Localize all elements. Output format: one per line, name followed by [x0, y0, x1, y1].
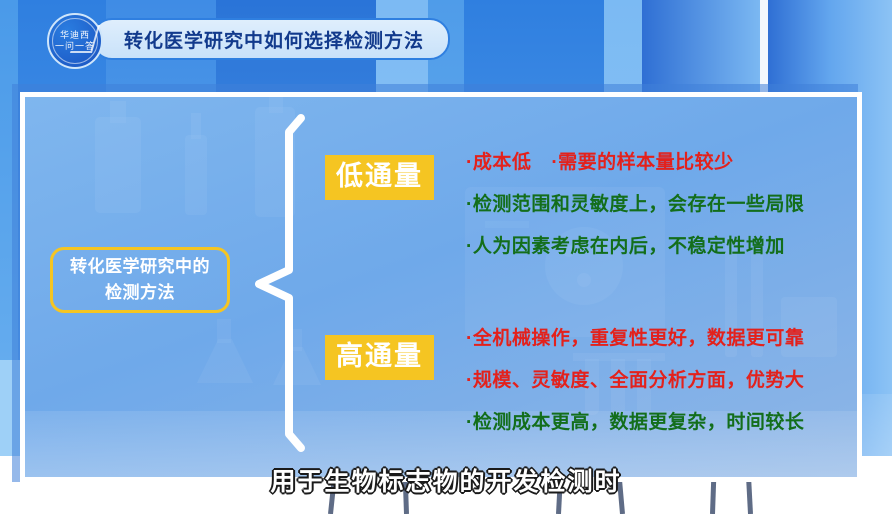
bottle-neck-icon — [191, 113, 201, 139]
bullet-line: ·成本低·需要的样本量比较少 — [466, 142, 804, 184]
analyzer-dot-icon — [577, 273, 591, 287]
category-chip-high-throughput: 高通量 — [325, 335, 434, 380]
flask-neck-icon — [217, 319, 231, 343]
bullet-line: ·人为因素考虑在内后，不稳定性增加 — [466, 226, 804, 268]
bottle-neck-icon — [110, 101, 126, 123]
root-node-box: 转化医学研究中的 检测方法 — [50, 247, 230, 313]
category-chip-low-throughput: 低通量 — [325, 155, 434, 200]
bullet-segment: ·需要的样本量比较少 — [551, 152, 733, 173]
category-chip-high-throughput-label: 高通量 — [336, 341, 423, 371]
page-title: 转化医学研究中如何选择检测方法 — [124, 26, 424, 53]
title-pill: 转化医学研究中如何选择检测方法 — [92, 18, 450, 60]
bottle-neck-icon — [269, 97, 283, 113]
video-frame: 华迪西 一问一答 转化医学研究中如何选择检测方法 — [0, 0, 892, 514]
bullet-segment: ·成本低 — [466, 152, 531, 173]
subtitle-caption: 用于生物标志物的开发检测时 — [0, 462, 892, 498]
bullet-line: ·检测范围和灵敏度上，会存在一些局限 — [466, 184, 804, 226]
bottle-icon — [185, 135, 207, 215]
bottle-icon — [95, 117, 141, 213]
bullet-line: ·规模、灵敏度、全面分析方面，优势大 — [466, 360, 804, 402]
bullet-list-high-throughput: ·全机械操作，重复性更好，数据更可靠 ·规模、灵敏度、全面分析方面，优势大 ·检… — [466, 318, 804, 444]
root-node-label-line2: 检测方法 — [70, 280, 210, 306]
bullet-line: ·检测成本更高，数据更复杂，时间较长 — [466, 402, 804, 444]
category-chip-low-throughput-label: 低通量 — [336, 161, 423, 191]
curly-brace-icon — [255, 112, 315, 452]
root-node-label: 转化医学研究中的 检测方法 — [70, 254, 210, 306]
brand-logo: 华迪西 一问一答 — [47, 13, 103, 69]
bullet-list-low-throughput: ·成本低·需要的样本量比较少 ·检测范围和灵敏度上，会存在一些局限 ·人为因素考… — [466, 142, 804, 268]
root-node-label-line1: 转化医学研究中的 — [70, 254, 210, 280]
flask-icon — [197, 339, 253, 383]
bullet-line: ·全机械操作，重复性更好，数据更可靠 — [466, 318, 804, 360]
brand-logo-inner: 华迪西 一问一答 — [52, 18, 98, 64]
